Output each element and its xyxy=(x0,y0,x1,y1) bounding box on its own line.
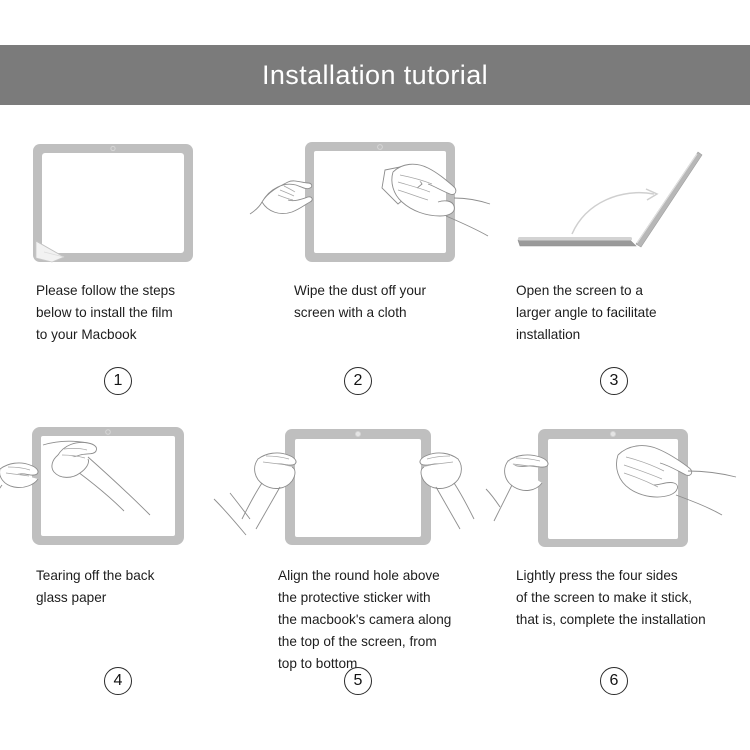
step-number-4: 4 xyxy=(104,667,132,695)
step-number-1: 1 xyxy=(104,367,132,395)
step-3-caption: Open the screen to a larger angle to fac… xyxy=(500,280,750,346)
hands-wiping-screen-with-cloth-icon xyxy=(250,142,490,262)
step-number-3: 3 xyxy=(600,367,628,395)
step-6-caption: Lightly press the four sides of the scre… xyxy=(500,565,750,631)
step-4-illustration xyxy=(0,415,250,550)
hand-pressing-screen-edges-icon xyxy=(494,429,736,547)
step-4-caption: Tearing off the back glass paper xyxy=(0,565,250,609)
step-6-illustration xyxy=(500,415,750,550)
step-card-3: Open the screen to a larger angle to fac… xyxy=(500,130,750,415)
step-5-illustration xyxy=(250,415,500,550)
two-hands-aligning-film-to-screen-icon xyxy=(242,429,500,545)
macbook-screen-with-peeling-film-corner-icon xyxy=(33,144,193,262)
tutorial-page: Installation tutorial Please follow the … xyxy=(0,0,750,750)
step-1-caption: Please follow the steps below to install… xyxy=(0,280,250,346)
steps-grid: Please follow the steps below to install… xyxy=(0,130,750,730)
title-banner: Installation tutorial xyxy=(0,45,750,105)
step-number-5: 5 xyxy=(344,667,372,695)
step-2-illustration xyxy=(250,130,500,265)
step-card-5: Align the round hole above the protectiv… xyxy=(250,415,500,700)
page-title: Installation tutorial xyxy=(262,62,488,89)
step-number-2: 2 xyxy=(344,367,372,395)
step-card-4: Tearing off the back glass paper 4 xyxy=(0,415,250,700)
step-2-caption: Wipe the dust off your screen with a clo… xyxy=(250,280,500,324)
step-card-1: Please follow the steps below to install… xyxy=(0,130,250,415)
step-1-illustration xyxy=(0,130,250,265)
step-number-6: 6 xyxy=(600,667,628,695)
step-card-6: Lightly press the four sides of the scre… xyxy=(500,415,750,700)
step-3-illustration xyxy=(500,130,750,265)
laptop-side-view-opening-arrow-icon xyxy=(518,152,702,247)
step-5-caption: Align the round hole above the protectiv… xyxy=(250,565,500,675)
step-card-2: Wipe the dust off your screen with a clo… xyxy=(250,130,500,415)
hand-peeling-back-glass-paper-icon xyxy=(0,427,250,545)
